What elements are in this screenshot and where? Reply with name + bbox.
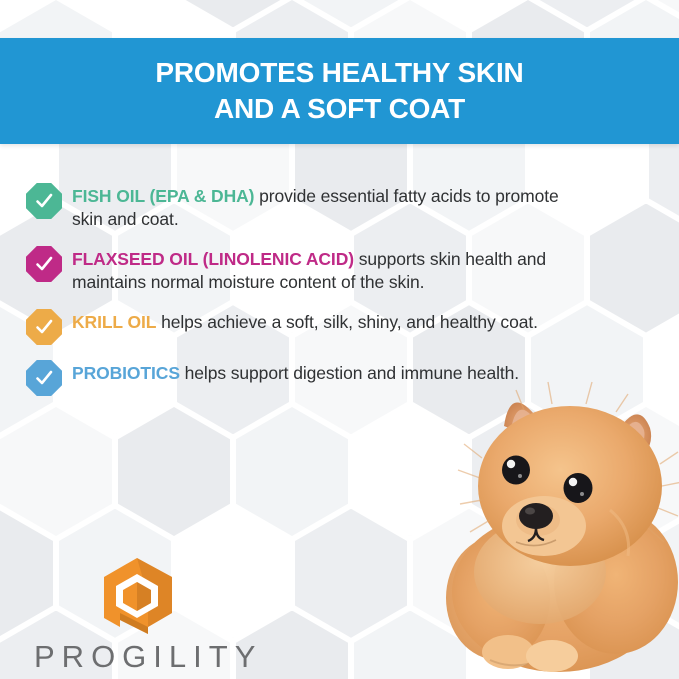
background-hexagon xyxy=(177,0,289,27)
check-octagon-icon xyxy=(26,246,62,282)
headline-line-1: PROMOTES HEALTHY SKIN xyxy=(155,55,523,91)
background-hexagon xyxy=(118,407,230,536)
benefit-item: FLAXSEED OIL (LINOLENIC ACID) supports s… xyxy=(26,245,586,294)
background-hexagon xyxy=(295,509,407,638)
background-hexagon xyxy=(590,204,679,333)
brand-wordmark: PROGILITY xyxy=(34,640,274,674)
background-hexagon xyxy=(0,0,53,27)
background-hexagon xyxy=(0,407,112,536)
benefit-heading: FLAXSEED OIL (LINOLENIC ACID) xyxy=(72,249,354,269)
benefit-text: FLAXSEED OIL (LINOLENIC ACID) supports s… xyxy=(72,245,586,294)
background-hexagon xyxy=(413,0,525,27)
brand-logo: PROGILITY xyxy=(34,556,274,674)
background-hexagon xyxy=(649,0,679,27)
benefit-heading: KRILL OIL xyxy=(72,312,156,332)
background-hexagon xyxy=(531,0,643,27)
pomeranian-dog-photo xyxy=(420,360,679,679)
check-octagon-icon xyxy=(26,360,62,396)
check-glyph xyxy=(26,309,62,345)
product-infographic: PROMOTES HEALTHY SKIN AND A SOFT COAT FI… xyxy=(0,0,679,679)
background-hexagon xyxy=(295,0,407,27)
check-octagon-icon xyxy=(26,309,62,345)
benefit-item: FISH OIL (EPA & DHA) provide essential f… xyxy=(26,182,586,231)
benefit-heading: FISH OIL (EPA & DHA) xyxy=(72,186,254,206)
background-hexagon xyxy=(59,0,171,27)
headline-banner: PROMOTES HEALTHY SKIN AND A SOFT COAT xyxy=(0,38,679,144)
background-hexagon xyxy=(236,407,348,536)
check-glyph xyxy=(26,360,62,396)
progility-p-hexagon-logo-mark xyxy=(96,556,178,636)
check-glyph xyxy=(26,246,62,282)
benefit-body: helps achieve a soft, silk, shiny, and h… xyxy=(156,312,538,332)
check-glyph xyxy=(26,183,62,219)
benefit-text: KRILL OIL helps achieve a soft, silk, sh… xyxy=(72,308,538,334)
benefit-item: KRILL OIL helps achieve a soft, silk, sh… xyxy=(26,308,586,345)
benefit-heading: PROBIOTICS xyxy=(72,363,180,383)
check-octagon-icon xyxy=(26,183,62,219)
benefit-text: FISH OIL (EPA & DHA) provide essential f… xyxy=(72,182,586,231)
headline-line-2: AND A SOFT COAT xyxy=(214,91,465,127)
